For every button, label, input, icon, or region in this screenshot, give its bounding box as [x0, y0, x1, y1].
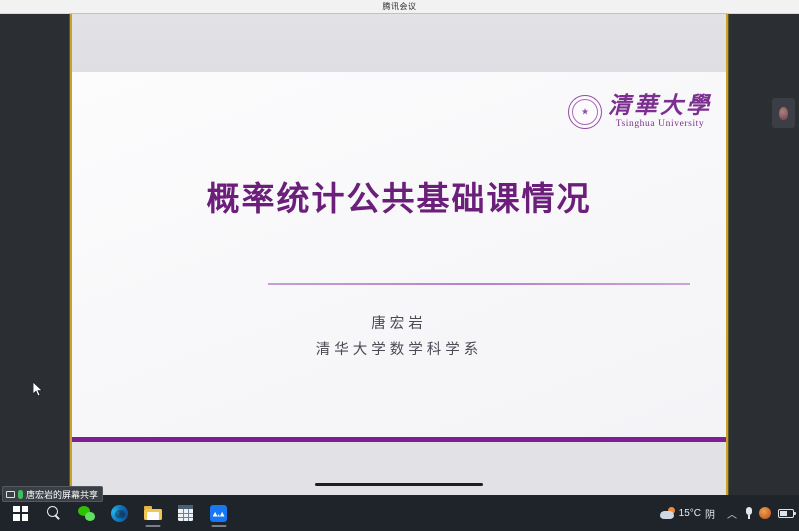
slide-canvas[interactable]: 清華大學 Tsinghua University 概率统计公共基础课情况 唐宏岩…: [72, 72, 726, 442]
app-button[interactable]: [202, 497, 235, 529]
edge-button[interactable]: [103, 497, 136, 529]
file-explorer-button[interactable]: [136, 497, 169, 529]
chevron-up-icon[interactable]: ︿: [725, 506, 739, 521]
presentation-scroll-handle[interactable]: [315, 483, 483, 486]
tsinghua-logo-chinese: 清華大學: [608, 94, 712, 118]
weather-cloud-sun-icon: [660, 507, 675, 519]
microphone-icon[interactable]: [746, 507, 752, 520]
tsinghua-logo: 清華大學 Tsinghua University: [568, 94, 712, 129]
user-icon[interactable]: [759, 507, 771, 519]
shared-presentation-window[interactable]: 清華大學 Tsinghua University 概率统计公共基础课情况 唐宏岩…: [70, 14, 728, 495]
edge-icon: [111, 505, 128, 522]
slide-affiliation: 清华大学数学科学系: [72, 338, 726, 359]
system-tray: 15°C 阴 ︿: [657, 506, 799, 521]
participant-video-image: [779, 107, 788, 120]
tsinghua-logo-text: 清華大學 Tsinghua University: [608, 94, 712, 129]
monitor-icon: [6, 491, 15, 498]
folder-icon: [144, 506, 162, 520]
app-title: 腾讯会议: [383, 1, 417, 12]
tsinghua-seal-icon: [568, 95, 602, 129]
screen: 腾讯会议 清華大學 Tsinghua University 概率统计公共基础课情…: [0, 0, 799, 531]
windows-logo-icon: [13, 506, 28, 521]
weather-condition: 阴: [705, 506, 715, 521]
battery-icon[interactable]: [778, 509, 794, 518]
presentation-footer-band: [72, 442, 726, 495]
title-divider-rule: [268, 283, 690, 285]
search-icon: [47, 506, 61, 520]
mouse-cursor: [33, 382, 44, 397]
windows-taskbar[interactable]: 15°C 阴 ︿: [0, 495, 799, 531]
running-indicator: [145, 525, 160, 527]
weather-widget[interactable]: 15°C 阴: [657, 506, 718, 521]
wechat-icon: [78, 506, 95, 521]
participant-video-thumbnail[interactable]: [772, 98, 795, 128]
screen-share-label: 唐宏岩的屏幕共享: [26, 488, 98, 501]
spreadsheet-icon: [178, 505, 193, 521]
microphone-icon[interactable]: [18, 490, 23, 499]
slide-title: 概率统计公共基础课情况: [72, 172, 726, 220]
presentation-chrome-band: [72, 14, 726, 72]
screen-share-badge[interactable]: 唐宏岩的屏幕共享: [2, 486, 103, 502]
running-indicator: [211, 525, 226, 527]
weather-temperature: 15°C: [679, 508, 701, 519]
slide-author: 唐宏岩: [72, 312, 726, 333]
meeting-app-titlebar: 腾讯会议: [0, 0, 799, 14]
tsinghua-logo-english: Tsinghua University: [616, 119, 705, 129]
spreadsheet-button[interactable]: [169, 497, 202, 529]
blue-app-icon: [210, 505, 227, 522]
